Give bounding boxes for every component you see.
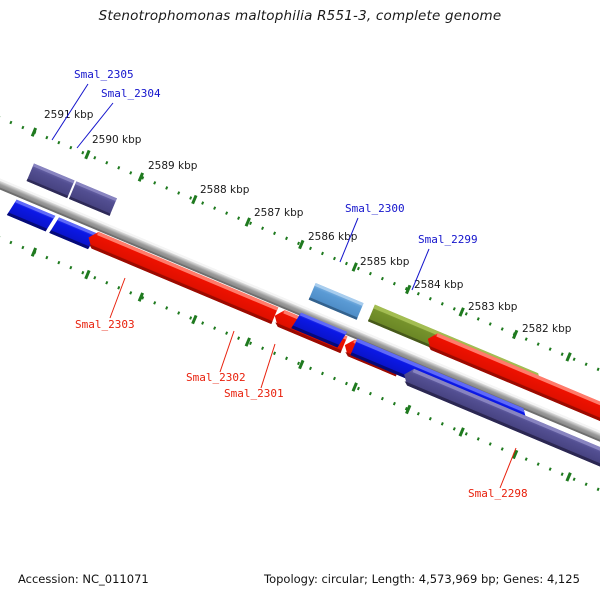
ruler-tick-label: 2589 kbp bbox=[148, 160, 198, 172]
leader-line-Smal_2303 bbox=[110, 278, 125, 318]
leader-line-Smal_2302 bbox=[220, 331, 234, 372]
accession-text: Accession: NC_011071 bbox=[18, 572, 149, 586]
leader-line-Smal_2298 bbox=[500, 448, 516, 488]
gene-label-Smal_2299[interactable]: Smal_2299 bbox=[418, 233, 478, 246]
genome-map-canvas[interactable]: 2591 kbp 2590 kbp 2589 kbp 2588 kbp 2587… bbox=[0, 0, 600, 600]
genome-map-viewer: Stenotrophomonas maltophilia R551-3, com… bbox=[0, 0, 600, 600]
leader-line-Smal_2301 bbox=[261, 344, 275, 388]
gene-label-Smal_2298[interactable]: Smal_2298 bbox=[468, 487, 528, 500]
ruler-tick-label: 2588 kbp bbox=[200, 184, 250, 196]
ruler-tick-label: 2591 kbp bbox=[44, 109, 94, 121]
ruler-tick-label: 2582 kbp bbox=[522, 323, 572, 335]
gene-label-Smal_2301[interactable]: Smal_2301 bbox=[224, 387, 284, 400]
gene-box-Smal_2303[interactable] bbox=[85, 229, 278, 324]
ruler-tick-label: 2590 kbp bbox=[92, 134, 142, 146]
ruler-tick-labels: 2591 kbp 2590 kbp 2589 kbp 2588 kbp 2587… bbox=[44, 109, 572, 335]
gene-label-Smal_2300[interactable]: Smal_2300 bbox=[345, 202, 405, 215]
ruler-tick-label: 2585 kbp bbox=[360, 256, 410, 268]
genome-summary-text: Topology: circular; Length: 4,573,969 bp… bbox=[264, 572, 580, 586]
ruler-tick-label: 2583 kbp bbox=[468, 301, 518, 313]
gene-label-Smal_2305[interactable]: Smal_2305 bbox=[74, 68, 134, 81]
gene-label-Smal_2302[interactable]: Smal_2302 bbox=[186, 371, 246, 384]
ruler-tick-label: 2587 kbp bbox=[254, 207, 304, 219]
gene-label-Smal_2304[interactable]: Smal_2304 bbox=[101, 87, 161, 100]
ruler-tick-label: 2584 kbp bbox=[414, 279, 464, 291]
gene-label-Smal_2303[interactable]: Smal_2303 bbox=[75, 318, 135, 331]
